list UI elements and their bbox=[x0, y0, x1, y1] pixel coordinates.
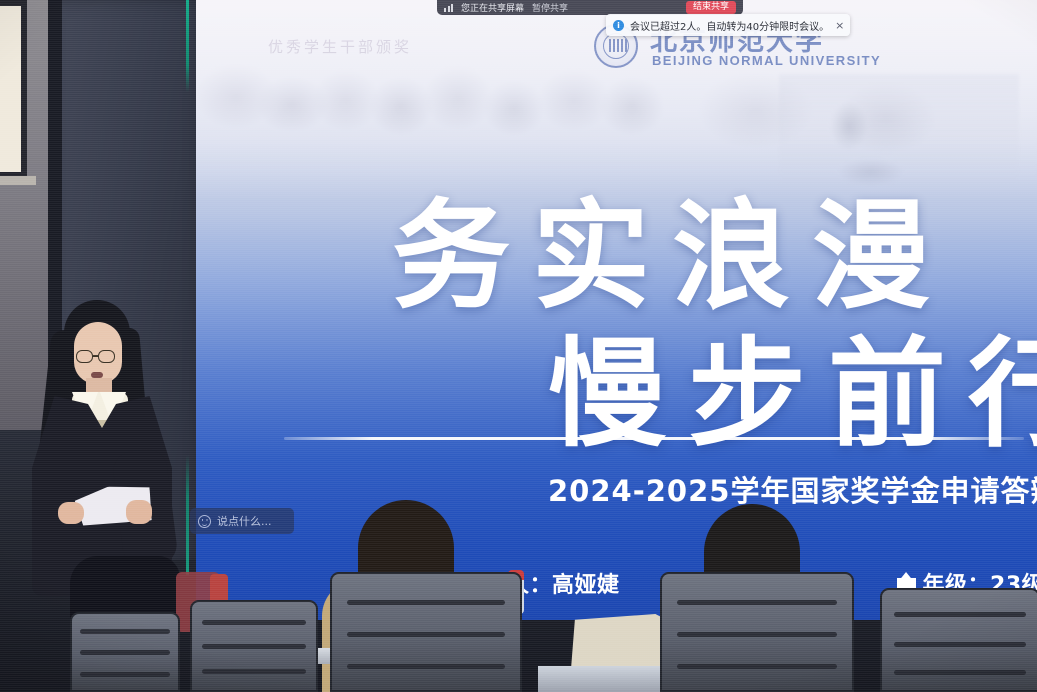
emoji-smiley-icon[interactable] bbox=[198, 515, 211, 528]
wall-frame-sill bbox=[0, 176, 36, 185]
teal-light-strip-top bbox=[186, 0, 189, 92]
pause-share-button[interactable]: 暂停共享 bbox=[532, 1, 568, 14]
chat-input-bubble[interactable]: 说点什么... bbox=[190, 508, 294, 534]
screenshot-root: 优秀学生干部颁奖 北京师范大学 BEIJING NORMAL UNIVERSIT… bbox=[0, 0, 1037, 692]
desk-center bbox=[538, 666, 678, 692]
chair-5 bbox=[880, 588, 1037, 692]
slide-title-line-2: 慢步前行 bbox=[548, 298, 1037, 469]
presenter-hand-left bbox=[58, 502, 84, 524]
info-icon: i bbox=[613, 20, 624, 31]
presenter-glasses-left bbox=[76, 350, 93, 363]
chair-4 bbox=[660, 572, 854, 692]
projection-screen: 优秀学生干部颁奖 北京师范大学 BEIJING NORMAL UNIVERSIT… bbox=[196, 0, 1037, 620]
wall-picture-frame bbox=[0, 0, 27, 178]
toast-message: 会议已超过2人。自动转为40分钟限时会议。 bbox=[630, 18, 829, 33]
chair-1 bbox=[70, 612, 180, 692]
chair-3 bbox=[330, 572, 522, 692]
presenter-glasses-bridge bbox=[93, 355, 98, 357]
stop-share-button[interactable]: 结束共享 bbox=[686, 1, 736, 14]
screen-share-toolbar[interactable]: 您正在共享屏幕 暂停共享 结束共享 bbox=[437, 0, 743, 15]
presenter-hand-right bbox=[126, 500, 152, 524]
chair-2 bbox=[190, 600, 318, 692]
presenter-person bbox=[14, 300, 194, 630]
share-status-label: 您正在共享屏幕 bbox=[461, 1, 524, 14]
slide-divider bbox=[284, 437, 1024, 440]
slide-subtitle: 2024-2025学年国家奖学金申请答辩 bbox=[548, 468, 1037, 510]
university-name-en: BEIJING NORMAL UNIVERSITY bbox=[652, 53, 881, 68]
meeting-limit-toast: i 会议已超过2人。自动转为40分钟限时会议。 × bbox=[606, 14, 850, 36]
signal-bars-icon bbox=[444, 4, 453, 12]
close-icon[interactable]: × bbox=[835, 20, 844, 31]
chat-input-placeholder[interactable]: 说点什么... bbox=[217, 513, 272, 529]
presenter-glasses-right bbox=[98, 350, 115, 363]
slide-photo-caption: 优秀学生干部颁奖 bbox=[268, 36, 412, 57]
